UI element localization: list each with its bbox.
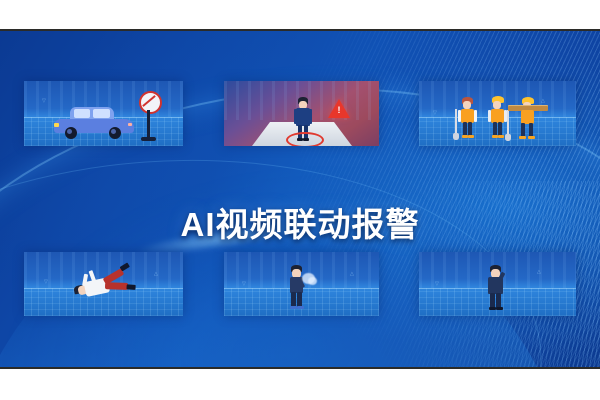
hud-tick-icon: ▽: [433, 111, 437, 116]
hud-tick-icon: △: [541, 99, 545, 104]
scene-card-phone-call-detection[interactable]: ▽ △: [419, 252, 576, 316]
slide-bottom-border: [0, 367, 600, 369]
warning-triangle-icon: !: [328, 99, 350, 118]
hud-tick-icon: ▽: [435, 282, 439, 287]
scene-card-illegal-parking[interactable]: ▽ △: [24, 81, 183, 146]
worker-illustration-3: [516, 95, 540, 141]
hud-tick-icon: △: [154, 272, 158, 277]
scene-card-ppe-helmet-detection[interactable]: ▽ △: [419, 81, 576, 146]
hud-tick-icon: △: [350, 272, 354, 277]
hud-tick-icon: △: [537, 270, 541, 275]
alert-zone-ellipse: [286, 132, 324, 146]
person-phone-call-illustration: [485, 265, 509, 311]
slide-frame: ▽ △: [0, 0, 600, 400]
scene-card-fall-detection[interactable]: ▽ △: [24, 252, 183, 316]
scene-card-intrusion-detection[interactable]: !: [224, 81, 379, 146]
hud-tick-icon: ▽: [42, 99, 46, 104]
worker-illustration-1: [457, 97, 479, 141]
page-title: AI视频联动报警: [0, 198, 600, 246]
smoke-cloud-icon: [308, 277, 317, 285]
worker-illustration-2: [487, 96, 509, 141]
car-illustration: [52, 107, 136, 141]
no-parking-sign-icon: [137, 91, 161, 143]
hud-tick-icon: ▽: [242, 282, 246, 287]
scene-card-smoking-detection[interactable]: ▽ △: [224, 252, 379, 316]
person-smoking-illustration: [286, 265, 310, 311]
presentation-slide: ▽ △: [0, 31, 600, 367]
hud-tick-icon: ▽: [44, 280, 48, 285]
